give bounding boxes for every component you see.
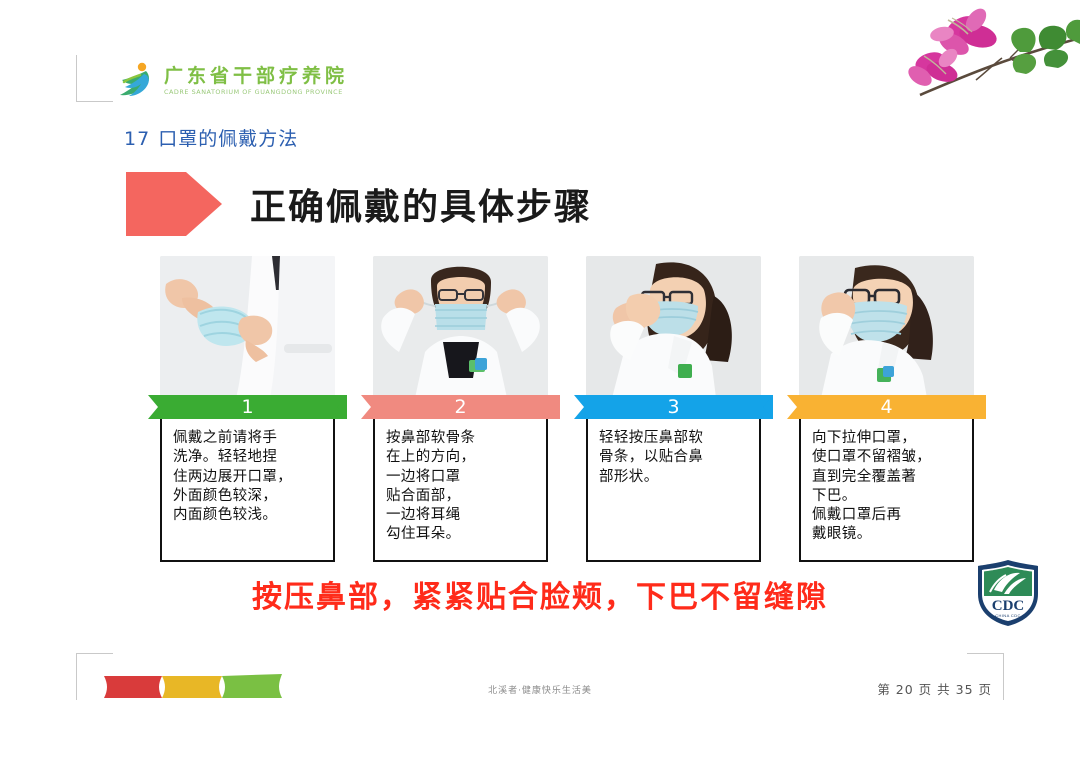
step-ribbon-3: 3	[574, 395, 773, 419]
step-number-2: 2	[454, 395, 466, 419]
svg-text:CDC: CDC	[992, 598, 1025, 614]
woman-putting-on-mask-photo	[373, 256, 548, 398]
step-number-4: 4	[880, 395, 892, 419]
page-indicator: 第 20 页 共 35 页	[877, 679, 992, 698]
hands-unfolding-mask-photo	[160, 256, 335, 398]
step-card-4: 4 向下拉伸口罩， 使口罩不留褶皱， 直到完全覆盖著 下巴。 佩戴口罩后再 戴眼…	[799, 256, 974, 556]
step-ribbon-2: 2	[361, 395, 560, 419]
step-text-1: 佩戴之前请将手 洗净。轻轻地捏 住两边展开口罩， 外面颜色较深， 内面颜色较浅。	[173, 429, 324, 525]
step-card-2: 2 按鼻部软骨条 在上的方向， 一边将口罩 贴合面部， 一边将耳绳 勾住耳朵。	[373, 256, 548, 556]
pressing-nose-clip-photo	[586, 256, 761, 398]
right-arrow-icon	[126, 168, 222, 240]
step-body-4: 向下拉伸口罩， 使口罩不留褶皱， 直到完全覆盖著 下巴。 佩戴口罩后再 戴眼镜。	[799, 419, 974, 562]
logo-chinese-name: 广东省干部疗养院	[164, 66, 348, 87]
step-card-1: 1 佩戴之前请将手 洗净。轻轻地捏 住两边展开口罩， 外面颜色较深， 内面颜色较…	[160, 256, 335, 556]
step-ribbon-1: 1	[148, 395, 347, 419]
svg-text:CHINA CDC: CHINA CDC	[995, 613, 1021, 618]
main-title-row: 正确佩戴的具体步骤	[126, 168, 592, 240]
step-body-3: 轻轻按压鼻部软 骨条，以贴合鼻 部形状。	[586, 419, 761, 562]
pulling-mask-over-chin-photo	[799, 256, 974, 398]
organization-logo: 广东省干部疗养院 CADRE SANATORIUM OF GUANGDONG P…	[116, 62, 348, 100]
bauhinia-flower-icon	[890, 0, 1080, 112]
step-text-3: 轻轻按压鼻部软 骨条，以贴合鼻 部形状。	[599, 429, 750, 487]
logo-english-name: CADRE SANATORIUM OF GUANGDONG PROVINCE	[164, 88, 348, 96]
cdc-shield-logo-icon: CDC CHINA CDC	[974, 558, 1042, 628]
step-ribbon-4: 4	[787, 395, 986, 419]
section-heading: 17口罩的佩戴方法	[124, 124, 298, 151]
step-body-2: 按鼻部软骨条 在上的方向， 一边将口罩 贴合面部， 一边将耳绳 勾住耳朵。	[373, 419, 548, 562]
slide-canvas: 广东省干部疗养院 CADRE SANATORIUM OF GUANGDONG P…	[0, 0, 1080, 762]
corner-mark-top-left	[76, 55, 113, 102]
slogan-text: 按压鼻部，紧紧贴合脸颊，下巴不留缝隙	[0, 572, 1080, 616]
section-number: 17	[124, 128, 150, 150]
step-number-3: 3	[667, 395, 679, 419]
step-text-2: 按鼻部软骨条 在上的方向， 一边将口罩 贴合面部， 一边将耳绳 勾住耳朵。	[386, 429, 537, 545]
step-text-4: 向下拉伸口罩， 使口罩不留褶皱， 直到完全覆盖著 下巴。 佩戴口罩后再 戴眼镜。	[812, 429, 963, 545]
step-card-3: 3 轻轻按压鼻部软 骨条，以贴合鼻 部形状。	[586, 256, 761, 556]
running-figure-logo-icon	[116, 62, 156, 100]
steps-container: 1 佩戴之前请将手 洗净。轻轻地捏 住两边展开口罩， 外面颜色较深， 内面颜色较…	[160, 256, 990, 556]
section-title: 口罩的佩戴方法	[158, 128, 298, 150]
page-title: 正确佩戴的具体步骤	[250, 178, 592, 230]
step-number-1: 1	[241, 395, 253, 419]
step-body-1: 佩戴之前请将手 洗净。轻轻地捏 住两边展开口罩， 外面颜色较深， 内面颜色较浅。	[160, 419, 335, 562]
